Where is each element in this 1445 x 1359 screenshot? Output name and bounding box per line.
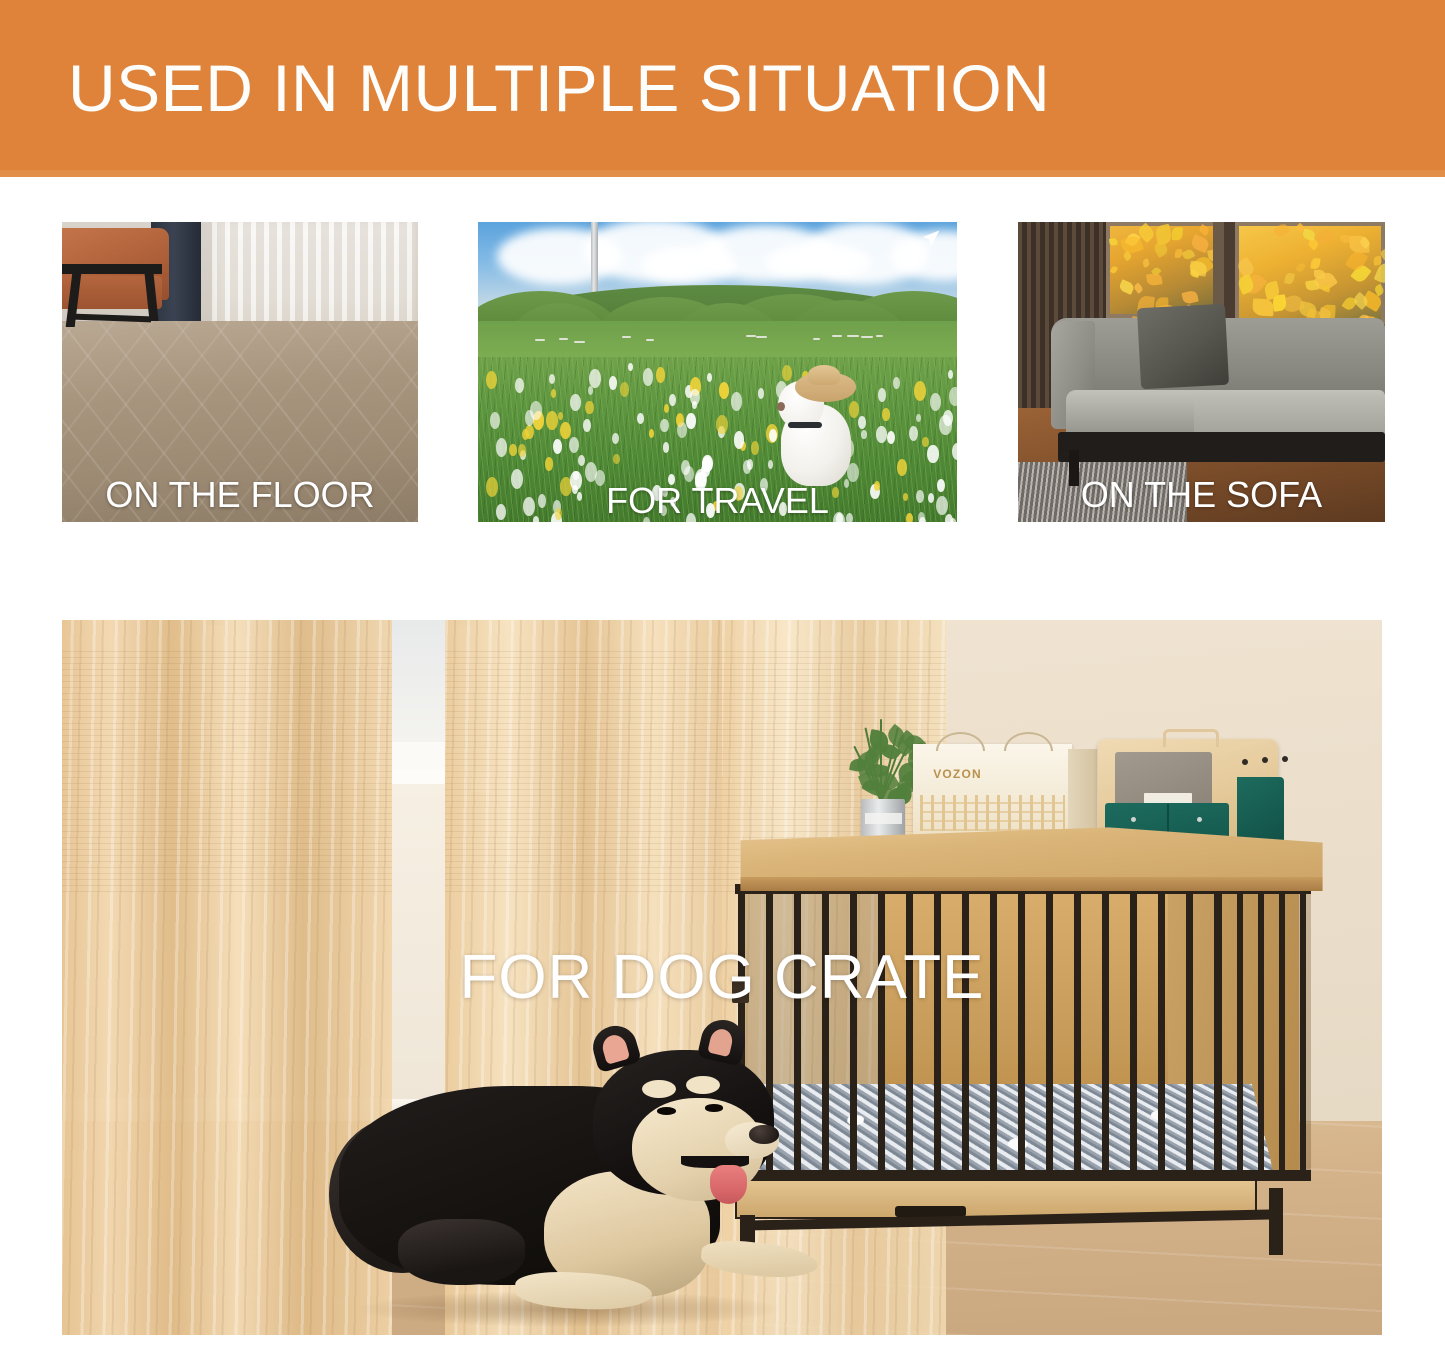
ginkgo-leaf [1253,299,1274,317]
hero-pet-carrier-vent-1 [1242,759,1248,765]
white-wildflower [858,416,866,429]
hero-label-for-dog-crate: FOR DOG CRATE [62,942,1382,1013]
hero-dog-eye-right [705,1104,723,1111]
white-wildflower [515,378,524,392]
card-travel-dog [775,372,856,486]
white-wildflower [861,430,866,439]
grazing-sheep [813,338,820,340]
white-wildflower [707,373,712,382]
hero-dog-front-paw-right [699,1237,819,1282]
white-wildflower [690,389,700,405]
dog-crate-top-edge [735,877,1323,891]
hero-dog-nose [749,1125,778,1143]
send-icon [921,228,941,248]
grazing-sheep [559,338,567,340]
situation-card-on-the-floor[interactable]: ON THE FLOOR [62,222,418,522]
white-wildflower [612,433,619,444]
white-wildflower [731,392,743,411]
hero-dog-brow-right [686,1076,720,1094]
white-wildflower [930,393,941,411]
white-wildflower [686,413,696,429]
cloud [765,243,870,281]
white-wildflower [490,412,500,428]
dog-crate-leg-right [1269,1188,1283,1256]
card-travel-pole [591,222,599,294]
yellow-wildflower [585,401,593,414]
yellow-wildflower [719,382,730,399]
hero-pet-carrier-handle [1163,729,1219,747]
white-wildflower [916,414,921,422]
yellow-wildflower [518,444,526,456]
card-label-for-travel: FOR TRAVEL [478,480,957,522]
hero-gift-bag-brand: VOZON [933,767,982,781]
yellow-wildflower [914,381,926,401]
yellow-wildflower [664,404,669,413]
grazing-sheep [876,335,884,337]
card-travel-dog-hat-crown [808,365,841,384]
white-wildflower [660,419,668,433]
yellow-wildflower [509,444,517,457]
yellow-wildflower [649,429,655,438]
white-wildflower [734,431,745,448]
hero-curtain-middle-weave [445,649,735,892]
white-wildflower [939,415,951,435]
hero-pet-carrier-vent-3 [1282,756,1288,762]
yellow-wildflower [620,382,629,397]
white-wildflower [583,419,591,432]
white-wildflower [893,377,900,389]
white-wildflower [927,445,938,464]
white-wildflower [549,374,555,384]
white-wildflower [887,431,895,444]
cloud [641,246,737,284]
ginkgo-leaf [1314,269,1325,278]
white-wildflower [570,394,581,411]
white-wildflower [669,394,676,406]
grazing-sheep [746,335,756,337]
white-wildflower [569,437,579,453]
white-wildflower [952,443,957,460]
card-travel-dog-snout [777,402,785,411]
yellow-wildflower [882,408,890,420]
grazing-sheep [622,336,631,338]
white-wildflower [949,387,957,406]
white-wildflower [743,460,751,474]
yellow-wildflower [560,422,571,439]
white-wildflower [876,426,886,443]
white-wildflower [878,388,886,401]
yellow-wildflower [546,411,558,430]
white-wildflower [553,439,562,454]
yellow-wildflower [545,457,553,470]
grazing-sheep [535,339,545,341]
card-label-on-the-floor: ON THE FLOOR [62,474,418,516]
white-wildflower [637,413,644,424]
white-wildflower [663,442,669,452]
white-wildflower [758,388,764,398]
white-wildflower [948,370,953,378]
yellow-wildflower [922,437,928,447]
hero-gift-bag-pattern [920,795,1065,831]
grazing-sheep [574,341,585,343]
hero-plant-can-label [865,813,902,824]
grazing-sheep [832,335,842,337]
card-label-on-the-sofa: ON THE SOFA [1018,474,1385,516]
card-travel-dog-collar [788,422,822,428]
hero-dog-hind-leg [398,1219,525,1285]
dog-crate-side-bars [1216,893,1311,1172]
hero-dog-tongue [710,1165,747,1204]
grazing-sheep [756,336,768,338]
situation-card-on-the-sofa[interactable]: ON THE SOFA [1018,222,1385,522]
yellow-wildflower [522,429,529,441]
hero-curtain-left-weave [62,649,392,892]
card-sofa-base [1058,432,1385,462]
white-wildflower [643,368,654,386]
hero-image-for-dog-crate[interactable]: VOZON [62,620,1382,1335]
header-banner-tint [0,170,1445,177]
yellow-wildflower [676,414,683,425]
card-sofa-cushion [1137,304,1229,389]
ginkgo-leaf [1109,238,1118,246]
grazing-sheep [646,339,654,341]
page-title: USED IN MULTIPLE SITUATION [68,52,1050,124]
situation-card-for-travel[interactable]: FOR TRAVEL [478,222,957,522]
yellow-wildflower [716,415,728,434]
hero-dog-malamute [339,1020,827,1320]
grazing-sheep [861,336,873,338]
yellow-wildflower [613,454,619,464]
